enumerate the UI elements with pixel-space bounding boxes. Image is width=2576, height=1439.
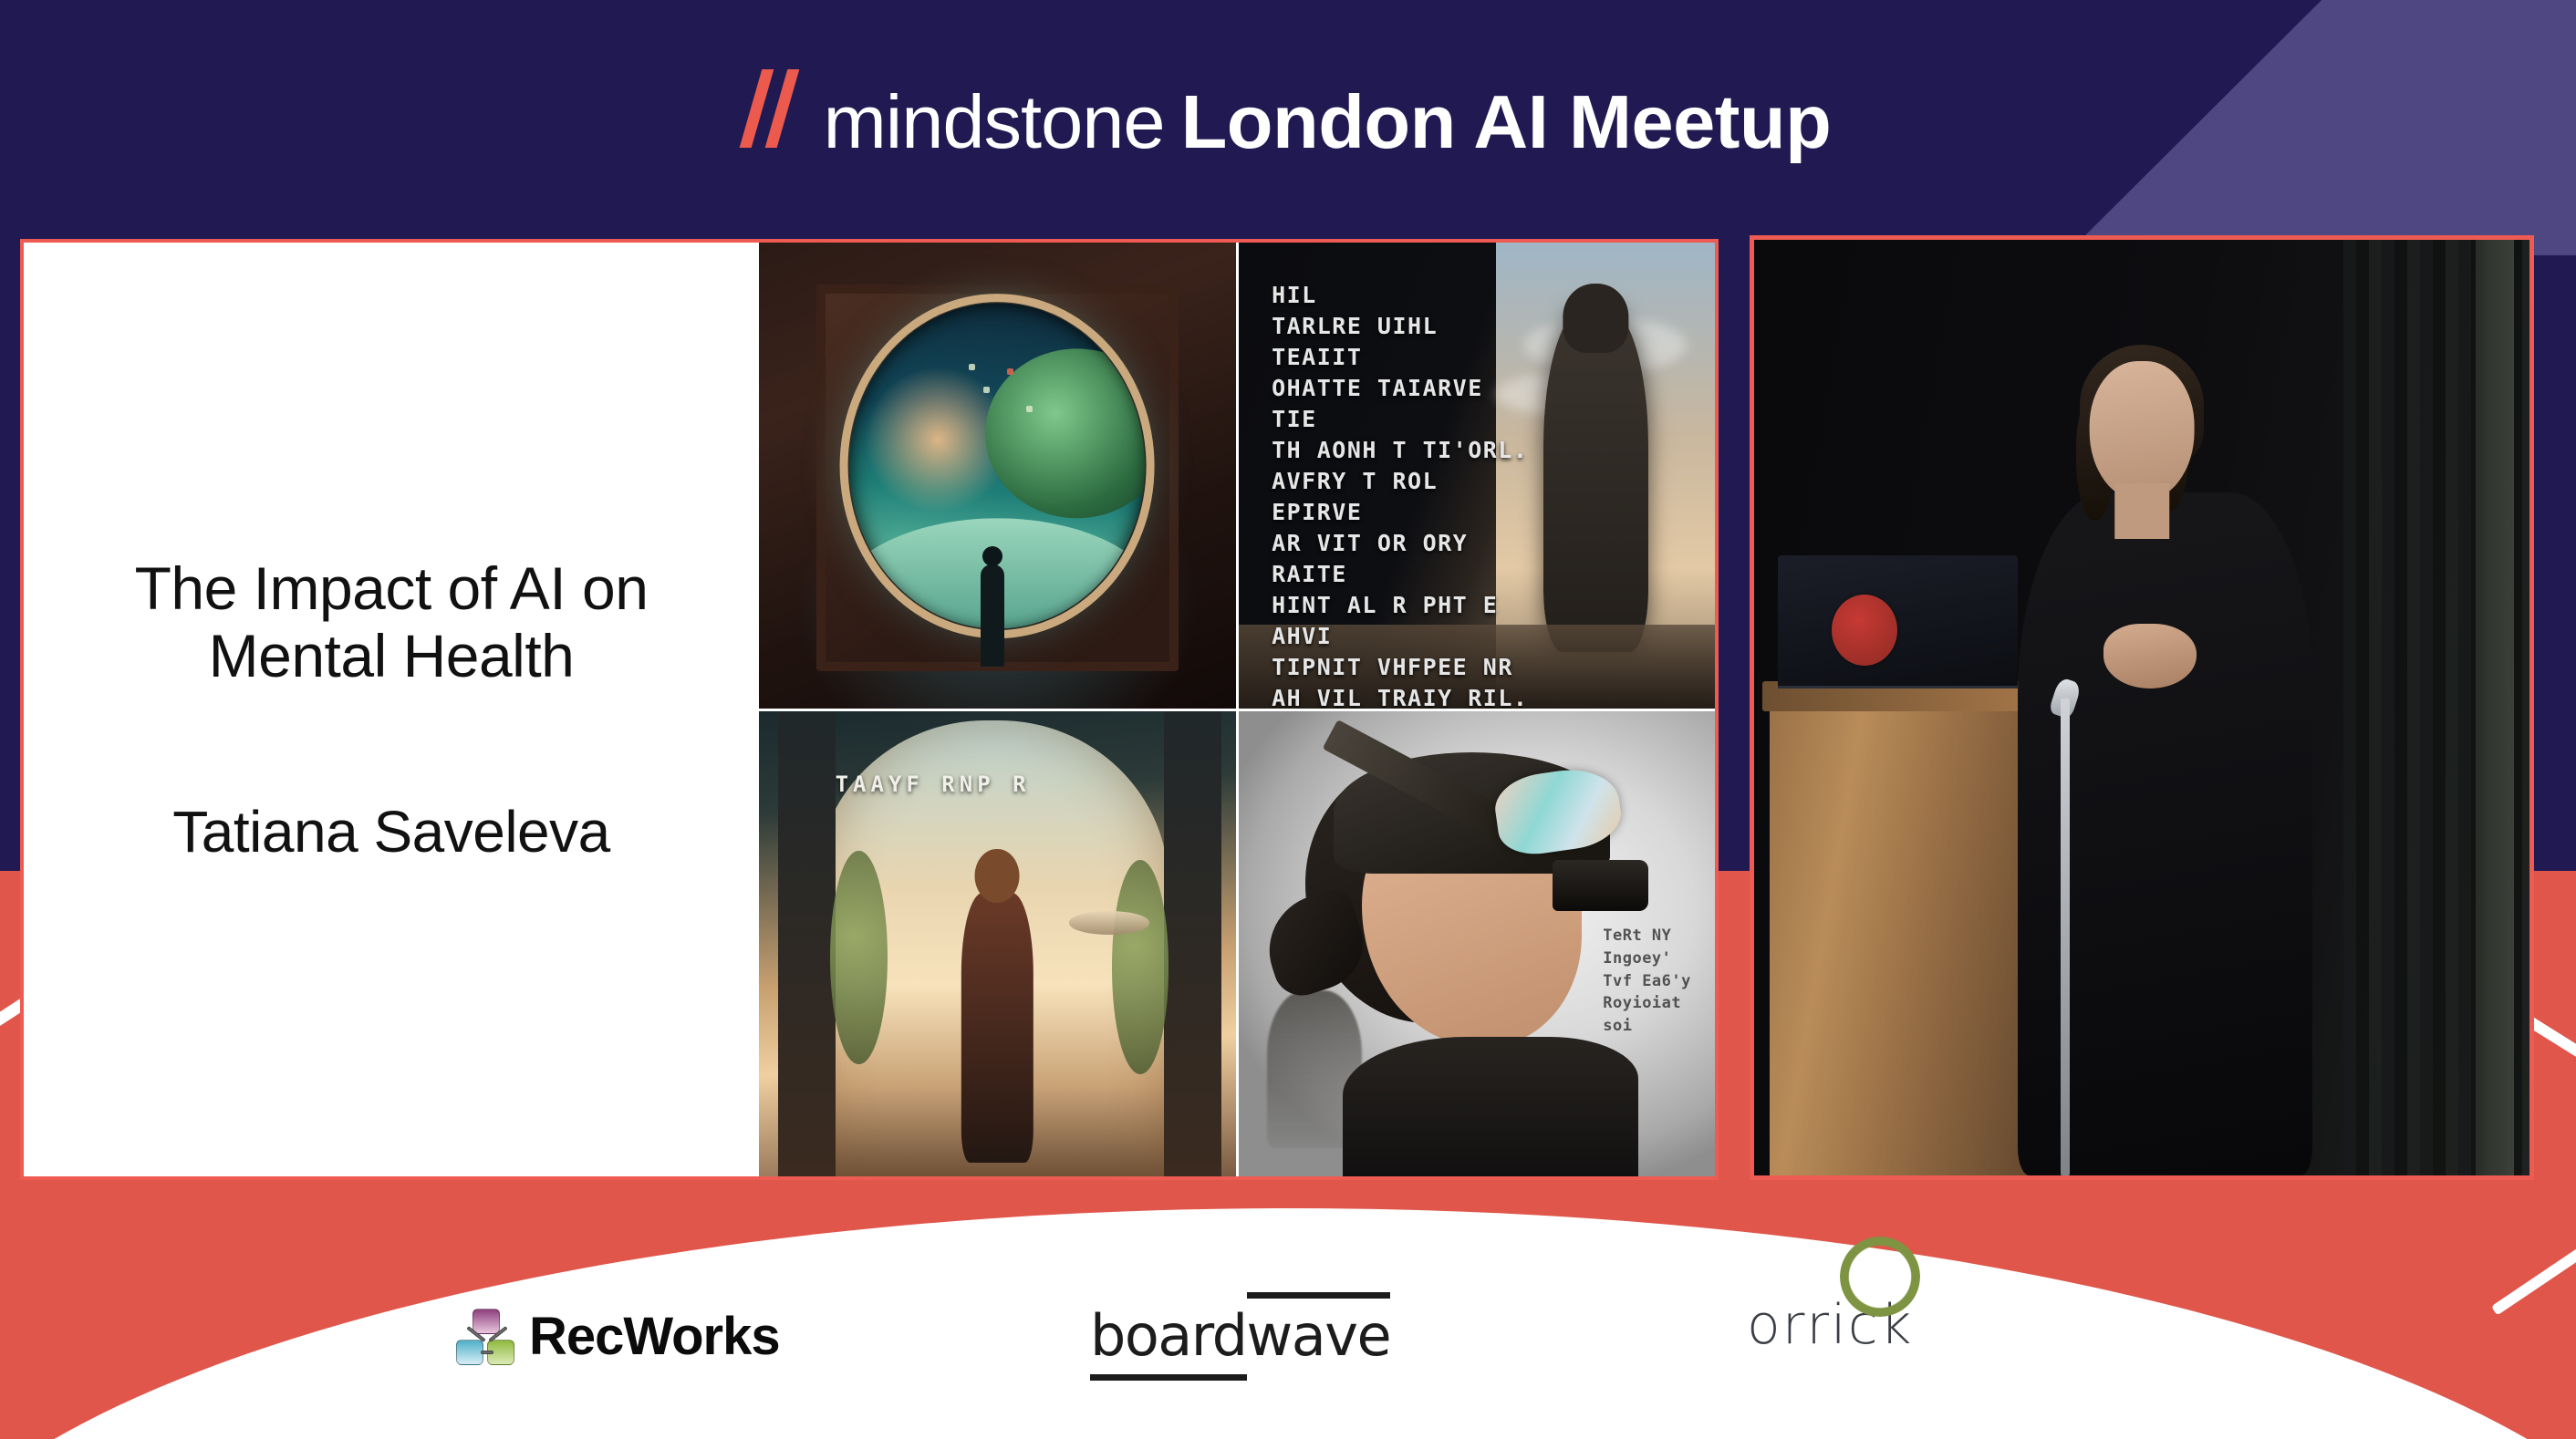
explorer-figure <box>961 893 1033 1163</box>
speaker-face <box>2090 361 2195 502</box>
podium <box>1770 708 2049 1175</box>
brand-lockup: mindstone London AI Meetup <box>745 69 1832 160</box>
brand-event-title: London AI Meetup <box>1181 84 1832 160</box>
soldier-silhouette <box>1543 307 1648 652</box>
floating-ship-shape <box>1069 911 1150 935</box>
speaker-hands <box>2103 624 2197 689</box>
soldier-text-image: HIL TARLRE UIHL TEAIIT OHATTE TAIARVE TI… <box>1239 243 1716 709</box>
sponsor-boardwave[interactable]: boardwave <box>1090 1302 1390 1369</box>
debris-dot <box>969 364 975 370</box>
sponsor-recworks-label: RecWorks <box>529 1306 780 1367</box>
speaker-neck <box>2114 483 2169 540</box>
slide-image-grid: HIL TARLRE UIHL TEAIIT OHATTE TAIARVE TI… <box>759 243 1715 1176</box>
sponsor-orrick[interactable]: orrick <box>1747 1293 1913 1357</box>
sponsor-recworks[interactable]: RecWorks <box>456 1306 780 1367</box>
generated-text-overlay: TAAYF RNP R <box>836 771 1031 797</box>
presentation-slide: The Impact of AI on Mental Health Tatian… <box>20 239 1719 1180</box>
torso-shape <box>1343 1037 1638 1176</box>
slide-text-panel: The Impact of AI on Mental Health Tatian… <box>24 243 759 1176</box>
curtain-edge-highlight <box>2476 240 2515 1175</box>
figure-silhouette <box>981 564 1004 667</box>
laptop <box>1778 555 2019 689</box>
boardwave-label-a: board <box>1090 1302 1247 1381</box>
vine-shape <box>1112 860 1169 1074</box>
pillar-left-shape <box>778 711 836 1177</box>
vine-shape <box>830 851 888 1065</box>
boardwave-label-b: wave <box>1247 1292 1391 1369</box>
event-header: mindstone London AI Meetup <box>0 0 2576 228</box>
microphone-stand <box>2061 699 2070 1175</box>
overlay-body: HIL TARLRE UIHL TEAIIT OHATTE TAIARVE TI… <box>1272 282 1528 709</box>
speaker-camera-feed <box>1750 235 2534 1180</box>
laptop-sticker <box>1832 595 1897 666</box>
generated-text-overlay: TeRt NY Ingoey' Tvf Ea6'y Royioiat soi <box>1603 925 1691 1037</box>
portal-door-image <box>759 243 1236 709</box>
debris-dot <box>983 387 990 393</box>
goggle-lens-shape <box>1553 860 1648 911</box>
orrick-ring-icon <box>1840 1237 1920 1317</box>
debris-dot <box>1007 368 1013 375</box>
arch-explorer-image: TAAYF RNP R <box>759 711 1236 1177</box>
double-slash-icon <box>745 69 816 148</box>
vr-child-image: TeRt NY Ingoey' Tvf Ea6'y Royioiat soi <box>1239 711 1716 1177</box>
orrick-lockup: orrick <box>1747 1293 1913 1357</box>
pillar-right-shape <box>1164 711 1221 1177</box>
brand-mindstone: mindstone <box>824 84 1165 160</box>
slide-title: The Impact of AI on Mental Health <box>60 555 722 690</box>
sponsor-bar: RecWorks boardwave orrick <box>0 1304 2576 1439</box>
slide-speaker-name: Tatiana Saveleva <box>172 800 609 864</box>
recworks-nodes-icon <box>456 1309 514 1365</box>
boardwave-wordmark-icon: boardwave <box>1090 1302 1390 1369</box>
presentation-stage: mindstone London AI Meetup The Impact of… <box>0 0 2576 1439</box>
generated-text-overlay: HIL TARLRE UIHL TEAIIT OHATTE TAIARVE TI… <box>1272 280 1539 709</box>
debris-dot <box>1026 406 1033 412</box>
